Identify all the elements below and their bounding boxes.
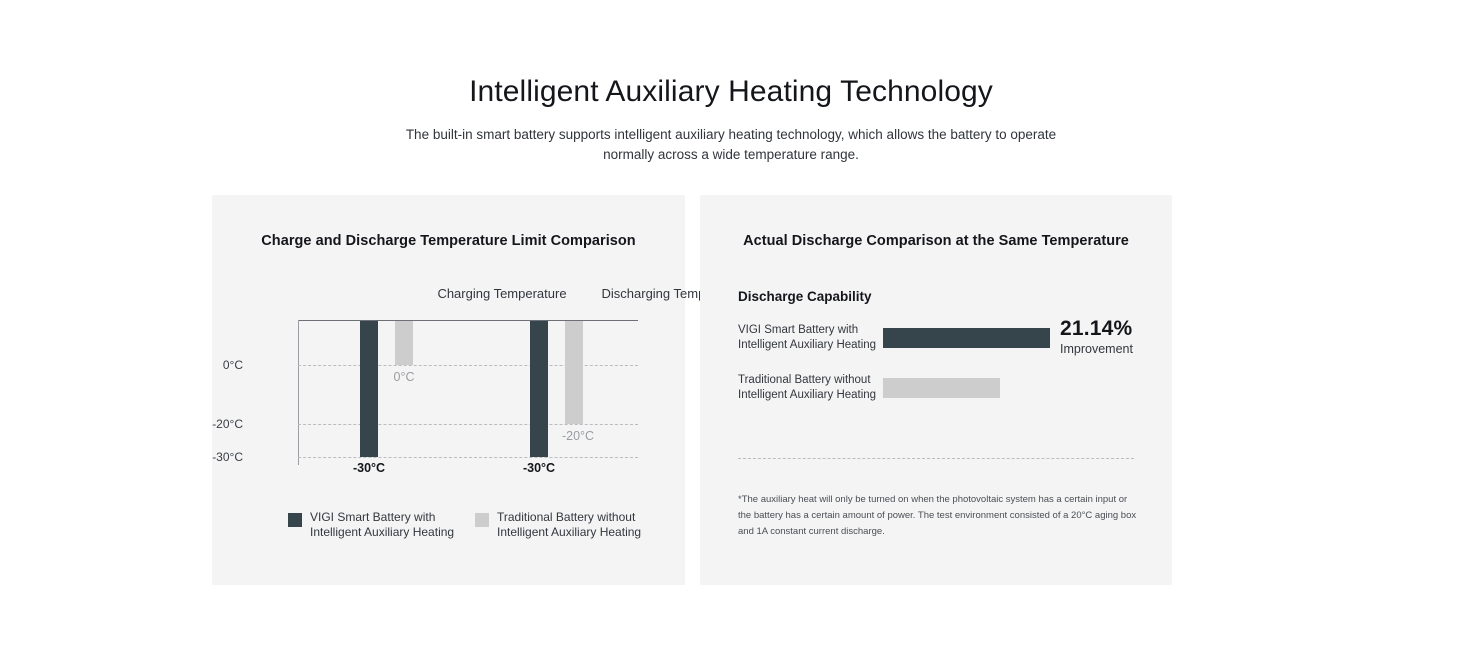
charts-container: Charge and Discharge Temperature Limit C…	[212, 195, 1172, 585]
bar-discharging-vigi	[530, 321, 548, 457]
plot-left-axis	[298, 320, 299, 465]
discharge-label-traditional: Traditional Battery without Intelligent …	[738, 373, 878, 403]
improvement-value: 21.14%	[1060, 317, 1180, 341]
ytick-0c: 0°C	[223, 358, 243, 372]
group-header-charging: Charging Temperature	[437, 286, 566, 301]
discharge-capability-label: Discharge Capability	[738, 289, 872, 304]
ytick-minus30c: -30°C	[212, 450, 243, 464]
improvement-callout: 21.14% Improvement	[1060, 317, 1180, 357]
ytick-minus20c: -20°C	[212, 417, 243, 431]
legend-item-vigi: VIGI Smart Battery with Intelligent Auxi…	[288, 510, 454, 540]
gridline-0c	[298, 365, 638, 366]
bar-charging-vigi	[360, 321, 378, 457]
actual-discharge-panel: Actual Discharge Comparison at the Same …	[700, 195, 1172, 585]
page-subtitle: The built-in smart battery supports inte…	[401, 112, 1061, 165]
discharge-label-vigi: VIGI Smart Battery with Intelligent Auxi…	[738, 323, 878, 353]
bar-value-discharging-traditional: -20°C	[562, 429, 594, 443]
temperature-limit-panel: Charge and Discharge Temperature Limit C…	[212, 195, 685, 585]
left-panel-title: Charge and Discharge Temperature Limit C…	[212, 233, 685, 249]
right-panel-title: Actual Discharge Comparison at the Same …	[700, 233, 1172, 249]
discharge-row-traditional: Traditional Battery without Intelligent …	[738, 373, 1158, 413]
page-header: Intelligent Auxiliary Heating Technology…	[0, 0, 1462, 165]
legend-label-traditional: Traditional Battery without Intelligent …	[497, 510, 641, 540]
improvement-caption: Improvement	[1060, 341, 1180, 357]
footnote-divider	[738, 458, 1134, 459]
bar-value-charging-traditional: 0°C	[394, 370, 415, 384]
bar-discharging-traditional	[565, 321, 583, 424]
gridline-minus30c	[298, 457, 638, 458]
plot-top-axis	[298, 320, 638, 321]
legend-label-vigi: VIGI Smart Battery with Intelligent Auxi…	[310, 510, 454, 540]
bar-charging-traditional	[395, 321, 413, 365]
bar-value-discharging-vigi: -30°C	[523, 461, 555, 475]
bar-value-charging-vigi: -30°C	[353, 461, 385, 475]
chart-legend: VIGI Smart Battery with Intelligent Auxi…	[212, 510, 685, 550]
page-title: Intelligent Auxiliary Heating Technology	[0, 0, 1462, 112]
temperature-limit-plot: 0°C -20°C -30°C -30°C 0°C -30°C -20°C	[254, 320, 638, 465]
group-headers: Charging Temperature Discharging Tempera…	[212, 286, 685, 304]
discharge-bar-vigi	[883, 328, 1050, 348]
discharge-bar-traditional	[883, 378, 1000, 398]
legend-swatch-icon-dark	[288, 513, 302, 527]
footnote-text: *The auxiliary heat will only be turned …	[738, 492, 1138, 540]
gridline-minus20c	[298, 424, 638, 425]
legend-swatch-icon-light	[475, 513, 489, 527]
legend-item-traditional: Traditional Battery without Intelligent …	[475, 510, 641, 540]
discharge-row-vigi: VIGI Smart Battery with Intelligent Auxi…	[738, 323, 1158, 363]
